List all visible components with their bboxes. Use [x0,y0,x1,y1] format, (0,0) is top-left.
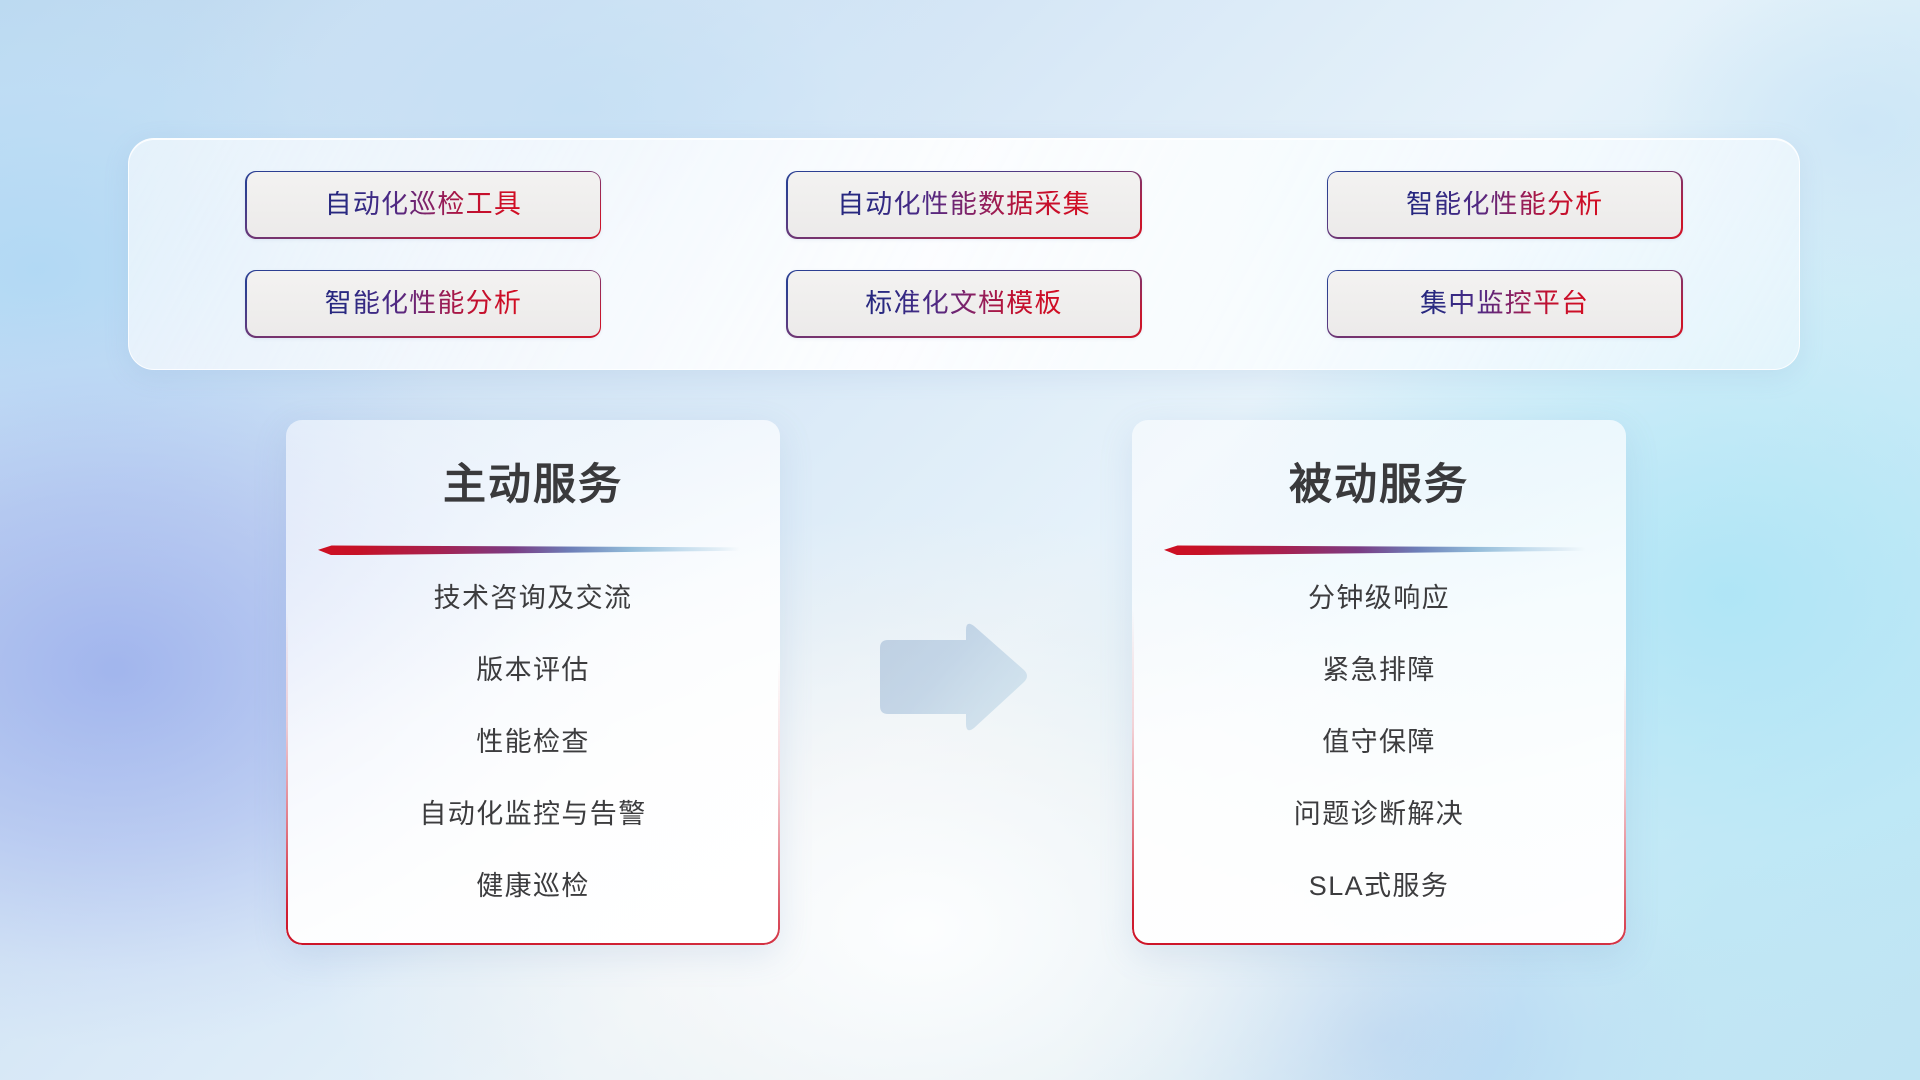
capability-tag-standardized-document-template[interactable]: 标准化文档模板 [786,270,1142,338]
tag-inner: 自动化巡检工具 [247,172,600,237]
slide-canvas: 自动化巡检工具 自动化性能数据采集 智能化性能分析 智能化性能分析 标准化文档模… [0,0,1920,1080]
capability-tag-centralized-monitoring-platform[interactable]: 集中监控平台 [1327,270,1683,338]
capability-tag-intelligent-performance-analysis-a[interactable]: 智能化性能分析 [1327,171,1683,239]
proactive-service-list: 技术咨询及交流 版本评估 性能检查 自动化监控与告警 健康巡检 [286,555,780,900]
list-item[interactable]: 自动化监控与告警 [286,801,780,828]
tag-inner: 智能化性能分析 [1328,172,1681,237]
tag-label: 智能化性能分析 [325,290,522,317]
tag-label: 集中监控平台 [1420,290,1589,317]
reactive-card-divider [1164,543,1586,555]
tag-inner: 智能化性能分析 [247,271,600,336]
list-item[interactable]: 技术咨询及交流 [286,585,780,612]
tag-label: 自动化性能数据采集 [837,191,1091,218]
proactive-service-card[interactable]: 主动服务 技术咨询及交流 版本评估 性能检查 自动化监控与告警 健康巡检 [286,420,780,945]
tag-inner: 自动化性能数据采集 [788,172,1141,237]
flow-arrow-right-icon [874,618,1032,736]
proactive-card-divider [318,543,740,555]
capability-tag-intelligent-performance-analysis-b[interactable]: 智能化性能分析 [245,270,601,338]
list-item[interactable]: SLA式服务 [1132,873,1626,900]
capability-tag-automated-performance-data-collection[interactable]: 自动化性能数据采集 [786,171,1142,239]
reactive-card-title: 被动服务 [1132,420,1626,509]
reactive-service-list: 分钟级响应 紧急排障 值守保障 问题诊断解决 SLA式服务 [1132,555,1626,900]
tag-label: 智能化性能分析 [1406,191,1603,218]
list-item[interactable]: 问题诊断解决 [1132,801,1626,828]
reactive-service-card[interactable]: 被动服务 分钟级响应 紧急排障 值守保障 问题诊断解决 SLA式服务 [1132,420,1626,945]
list-item[interactable]: 版本评估 [286,657,780,684]
list-item[interactable]: 性能检查 [286,729,780,756]
list-item[interactable]: 值守保障 [1132,729,1626,756]
tag-label: 标准化文档模板 [865,290,1062,317]
capability-tag-panel: 自动化巡检工具 自动化性能数据采集 智能化性能分析 智能化性能分析 标准化文档模… [128,138,1800,370]
tag-inner: 标准化文档模板 [788,271,1141,336]
capability-tag-automated-inspection-tool[interactable]: 自动化巡检工具 [245,171,601,239]
tag-inner: 集中监控平台 [1328,271,1681,336]
list-item[interactable]: 紧急排障 [1132,657,1626,684]
proactive-card-title: 主动服务 [286,420,780,509]
tag-label: 自动化巡检工具 [325,191,522,218]
list-item[interactable]: 健康巡检 [286,873,780,900]
list-item[interactable]: 分钟级响应 [1132,585,1626,612]
